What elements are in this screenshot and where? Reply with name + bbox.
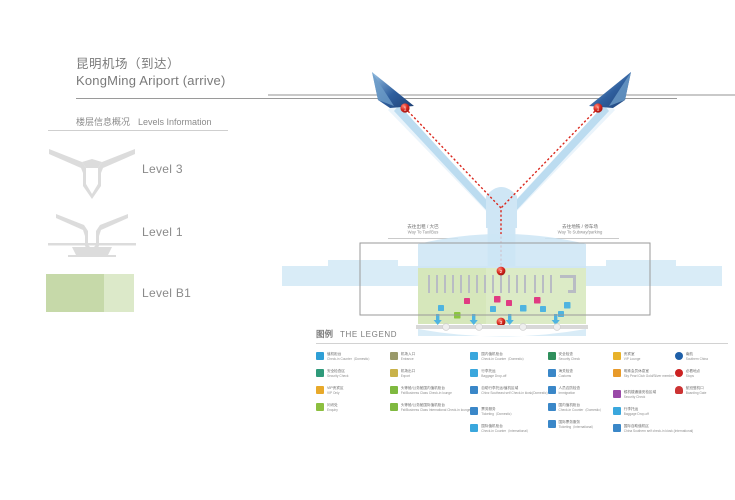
page-title-cn: 昆明机场（到达） <box>76 56 226 72</box>
legend-item[interactable]: 问讯处Enquiry <box>316 402 390 414</box>
map-top-rule <box>268 94 735 96</box>
checkin-counter-domestic-grid-icon <box>470 352 478 360</box>
baggage-drop-off-grid-icon-2 <box>613 407 621 415</box>
map-marker-arrival-left[interactable]: 1 <box>400 103 409 112</box>
legend-label-en: Check-in Counter（International） <box>481 429 530 434</box>
legend-item[interactable]: 安全检查Security Check <box>548 351 613 363</box>
svg-text:Way To Subway/parking: Way To Subway/parking <box>558 230 603 235</box>
levels-heading-cn: 楼层信息概况 <box>76 115 130 128</box>
level-b1-label: Level B1 <box>142 286 191 300</box>
legend-label-en: Chinz Southeast self Check-in kiosk(Dome… <box>481 391 547 396</box>
legend-item[interactable]: 候机楼通道安检区域Security Check <box>613 389 675 401</box>
intl-self-checkin-kiosk-icon <box>613 424 621 432</box>
legend-item[interactable]: 明珠会员休息室Sky Pearl Club Gold/Silver member <box>613 368 675 384</box>
legend-item[interactable]: 国内值机柜台Check-in Counter（Domestic） <box>470 351 547 363</box>
legend-item[interactable]: 南航Southern China <box>675 351 728 363</box>
legend-item[interactable]: 行李托运Baggage Drop-off <box>470 368 547 380</box>
export-person-icon <box>390 369 398 377</box>
checkin-domestic-swatch-icon <box>316 352 324 360</box>
legend-item[interactable]: 机场入口Entrance <box>390 351 470 363</box>
legend-label-en: Entrance <box>401 357 415 362</box>
level-3-shape-icon <box>46 142 138 204</box>
level-1-label: Level 1 <box>142 225 183 239</box>
legend-label-en: Immigration <box>559 391 581 396</box>
legend-column-6: 南航Southern China 必看地点Stops 航班登机口Boarding… <box>675 351 728 444</box>
legend-label-en: VIP Lounge <box>624 357 641 362</box>
level-item-3[interactable]: Level 3 <box>46 142 236 204</box>
legend-item[interactable]: VIP贵宾区VIP Only <box>316 385 390 397</box>
self-checkin-kiosk-icon <box>470 386 478 394</box>
boarding-gate-plane-icon <box>675 386 683 394</box>
legend-heading-cn: 图例 <box>316 328 333 340</box>
legend-label-en: Security Check <box>559 357 580 362</box>
legend-column-1: 值机柜台Check-in Counter（Domestic） 安全检查区Secu… <box>316 351 390 444</box>
entrance-person-icon <box>390 352 398 360</box>
legend-label-en: Enquiry <box>327 408 338 413</box>
ticketing-intl-icon <box>548 420 556 428</box>
levels-divider <box>48 130 228 131</box>
legend-heading-en: THE LEGEND <box>340 330 397 339</box>
legend-label-en: Security Check <box>624 395 656 400</box>
level-3-label: Level 3 <box>142 162 183 176</box>
vip-lounge-star-icon <box>613 352 621 360</box>
way-to-subway-label: 去往地铁 / 停车场 Way To Subway/parking <box>545 223 619 239</box>
legend-label-en: Sky Pearl Club Gold/Silver member <box>624 374 674 379</box>
immigration-check-icon <box>548 386 556 394</box>
corridor-security-plus-icon <box>613 390 621 398</box>
legend-item[interactable]: 航班登机口Boarding Gate <box>675 385 728 397</box>
svg-text:1: 1 <box>597 106 600 112</box>
sky-pearl-club-star-icon <box>613 369 621 377</box>
legend-item[interactable]: 人员边防检查Immigration <box>548 385 613 397</box>
airport-map[interactable]: 1 1 去往出租 / 大巴 Way To Taxi/Bus 去往地铁 / 停车场… <box>268 28 735 348</box>
legend-label-en: Check-in Counter（Domestic） <box>481 357 525 362</box>
checkin-counter-domestic-ticket-icon <box>548 403 556 411</box>
legend-label-en: Security Check <box>327 374 348 379</box>
legend-label-en: VIP Only <box>327 391 344 396</box>
svg-text:Way To Taxi/Bus: Way To Taxi/Bus <box>408 230 439 235</box>
legend-label-en: Stops <box>686 374 700 379</box>
legend-label-en: Baggage Drop-off <box>624 412 649 417</box>
map-marker-waypoint-top[interactable]: 2 <box>497 267 506 276</box>
legend-column-3: 国内值机柜台Check-in Counter（Domestic） 行李托运Bag… <box>470 351 547 444</box>
southern-china-logo-icon <box>675 352 683 360</box>
legend-label-en: Baggage Drop-off <box>481 374 506 379</box>
page-title: 昆明机场（到达） KongMing Ariport (arrive) <box>76 56 226 89</box>
levels-heading: 楼层信息概况 Levels Information <box>76 115 212 128</box>
svg-text:2: 2 <box>500 269 503 275</box>
legend-item[interactable]: 值机柜台Check-in Counter（Domestic） <box>316 351 390 363</box>
legend-item[interactable]: 头等舱/公务舱国内值机柜台Fst/Business Class Check-in… <box>390 385 470 397</box>
legend-item[interactable]: 必看地点Stops <box>675 368 728 380</box>
legend-label-en: Export <box>401 374 415 379</box>
level-item-1[interactable]: Level 1 <box>46 205 236 267</box>
arrival-arrow-left-icon <box>372 72 414 108</box>
legend-column-2: 机场入口Entrance 机场出口Export 头等舱/公务舱国内值机柜台Fst… <box>390 351 470 444</box>
business-checkin-grid-icon <box>390 386 398 394</box>
legend-item[interactable]: 国际自助值机区China Southern self check-in kios… <box>613 423 675 439</box>
legend-item[interactable]: 头等舱/公务舱国际值机柜台Fst/Business Class Internat… <box>390 402 470 414</box>
vip-only-swatch-icon <box>316 386 324 394</box>
arrival-arrow-right-icon <box>589 72 631 108</box>
checkin-counter-intl-grid-icon <box>470 424 478 432</box>
legend-label-en: Southern China <box>686 357 708 362</box>
legend-label-en: Fst/Business Class Check-in lounge <box>401 391 452 396</box>
levels-heading-en: Levels Information <box>138 117 212 127</box>
level-b1-shape-icon <box>46 266 138 328</box>
legend-label-en: Ticketing（Domestic） <box>481 412 513 417</box>
legend-item[interactable]: 国内值机柜台Check-in Counter（Domestic） <box>548 402 613 414</box>
ticketing-domestic-icon <box>470 407 478 415</box>
legend-item[interactable]: 国际值机柜台Check-in Counter（International） <box>470 423 547 435</box>
legend-label-en: Check-in Counter（Domestic） <box>327 357 371 362</box>
legend-label-en: Ticketing（International） <box>559 425 596 430</box>
legend-divider <box>316 343 728 344</box>
legend-column-5: 贵宾室VIP Lounge 明珠会员休息室Sky Pearl Club Gold… <box>613 351 675 444</box>
legend-label-en: Boarding Gate <box>686 391 707 396</box>
legend-item[interactable]: 机场出口Export <box>390 368 470 380</box>
level-1-shape-icon <box>46 205 138 267</box>
legend-column-4: 安全检查Security Check 海关检查Customs 人员边防检查Imm… <box>548 351 613 444</box>
way-to-taxi-label: 去往出租 / 大巴 Way To Taxi/Bus <box>388 223 458 239</box>
legend-item[interactable]: 国际票务服务Ticketing（International） <box>548 419 613 431</box>
page-title-en: KongMing Ariport (arrive) <box>76 72 226 89</box>
legend-item[interactable]: 安全检查区Security Check <box>316 368 390 380</box>
airport-map-svg: 1 1 去往出租 / 大巴 Way To Taxi/Bus 去往地铁 / 停车场… <box>268 28 735 348</box>
enquiry-question-icon <box>316 403 324 411</box>
legend-item[interactable]: 行李托运Baggage Drop-off <box>613 406 675 418</box>
business-intl-checkin-grid-icon <box>390 403 398 411</box>
map-marker-arrival-right[interactable]: 1 <box>593 103 602 112</box>
legend-item[interactable]: 贵宾室VIP Lounge <box>613 351 675 363</box>
legend-panel: 图例 THE LEGEND 值机柜台Check-in Counter（Domes… <box>316 328 728 444</box>
security-check-swatch-icon <box>316 369 324 377</box>
legend-label-en: Customs <box>559 374 573 379</box>
customs-check-icon <box>548 369 556 377</box>
legend-item[interactable]: 海关检查Customs <box>548 368 613 380</box>
level-item-b1[interactable]: Level B1 <box>46 266 236 328</box>
security-check-shield-icon <box>548 352 556 360</box>
svg-text:1: 1 <box>404 106 407 112</box>
legend-label-en: Check-in Counter（Domestic） <box>559 408 603 413</box>
legend-item[interactable]: 票务服务Ticketing（Domestic） <box>470 406 547 418</box>
legend-columns: 值机柜台Check-in Counter（Domestic） 安全检查区Secu… <box>316 351 728 444</box>
baggage-drop-off-grid-icon <box>470 369 478 377</box>
legend-label-en: Fst/Business Class International Check-i… <box>401 408 470 413</box>
legend-item[interactable]: 自助行李托运/值机区域Chinz Southeast self Check-in… <box>470 385 547 401</box>
stops-marker-icon <box>675 369 683 377</box>
legend-heading: 图例 THE LEGEND <box>316 328 728 340</box>
